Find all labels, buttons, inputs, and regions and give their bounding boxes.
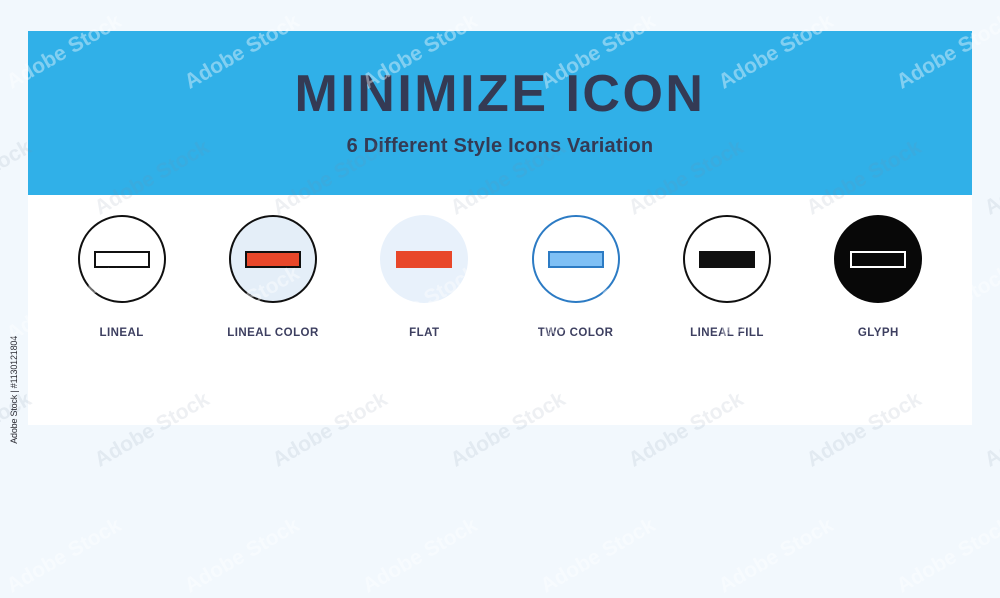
icon-label-glyph: GLYPH: [858, 327, 899, 339]
minimize-icon-two-color: [531, 214, 621, 304]
icon-cell-lineal-color[interactable]: LINEAL COLOR: [203, 195, 343, 339]
watermark-tile: Adobe Stock: [181, 514, 304, 598]
minimize-icon-glyph: [833, 214, 923, 304]
icon-cell-flat[interactable]: FLAT: [354, 195, 494, 339]
minimize-icon-lineal-fill: [682, 214, 772, 304]
icon-cell-glyph[interactable]: GLYPH: [808, 195, 948, 339]
minimize-bar-shape: [548, 251, 604, 268]
minimize-bar-shape: [396, 251, 452, 268]
icon-label-two-color: TWO COLOR: [538, 327, 614, 339]
adobe-stock-credit: Adobe Stock | #1130121804: [0, 0, 28, 450]
icon-label-lineal-fill: LINEAL FILL: [690, 327, 764, 339]
icon-cell-lineal[interactable]: LINEAL: [52, 195, 192, 339]
page-title: MINIMIZE ICON: [295, 68, 706, 120]
watermark-tile: Adobe Stock: [981, 388, 1000, 473]
minimize-icon-lineal-color: [228, 214, 318, 304]
watermark-tile: Adobe Stock: [715, 514, 838, 598]
icon-label-flat: FLAT: [409, 327, 439, 339]
icon-cell-lineal-fill[interactable]: LINEAL FILL: [657, 195, 797, 339]
icon-poster: MINIMIZE ICON 6 Different Style Icons Va…: [28, 31, 972, 425]
minimize-bar-shape: [245, 251, 301, 268]
minimize-bar-shape: [699, 251, 755, 268]
watermark-tile: Adobe Stock: [3, 514, 126, 598]
watermark-tile: Adobe Stock: [359, 514, 482, 598]
icon-gallery: LINEAL LINEAL COLOR FLAT TWO COLOR: [28, 195, 972, 425]
minimize-bar-shape: [94, 251, 150, 268]
watermark-tile: Adobe Stock: [537, 514, 660, 598]
minimize-icon-lineal: [77, 214, 167, 304]
page-subtitle: 6 Different Style Icons Variation: [347, 135, 654, 158]
watermark-tile: Adobe Stock: [981, 136, 1000, 221]
adobe-stock-credit-text: Adobe Stock | #1130121804: [9, 336, 19, 444]
icon-label-lineal-color: LINEAL COLOR: [227, 327, 318, 339]
watermark-tile: Adobe Stock: [893, 514, 1000, 598]
icon-label-lineal: LINEAL: [100, 327, 144, 339]
minimize-bar-shape: [850, 251, 906, 268]
poster-header: MINIMIZE ICON 6 Different Style Icons Va…: [28, 31, 972, 195]
icon-cell-two-color[interactable]: TWO COLOR: [506, 195, 646, 339]
minimize-icon-flat: [379, 214, 469, 304]
